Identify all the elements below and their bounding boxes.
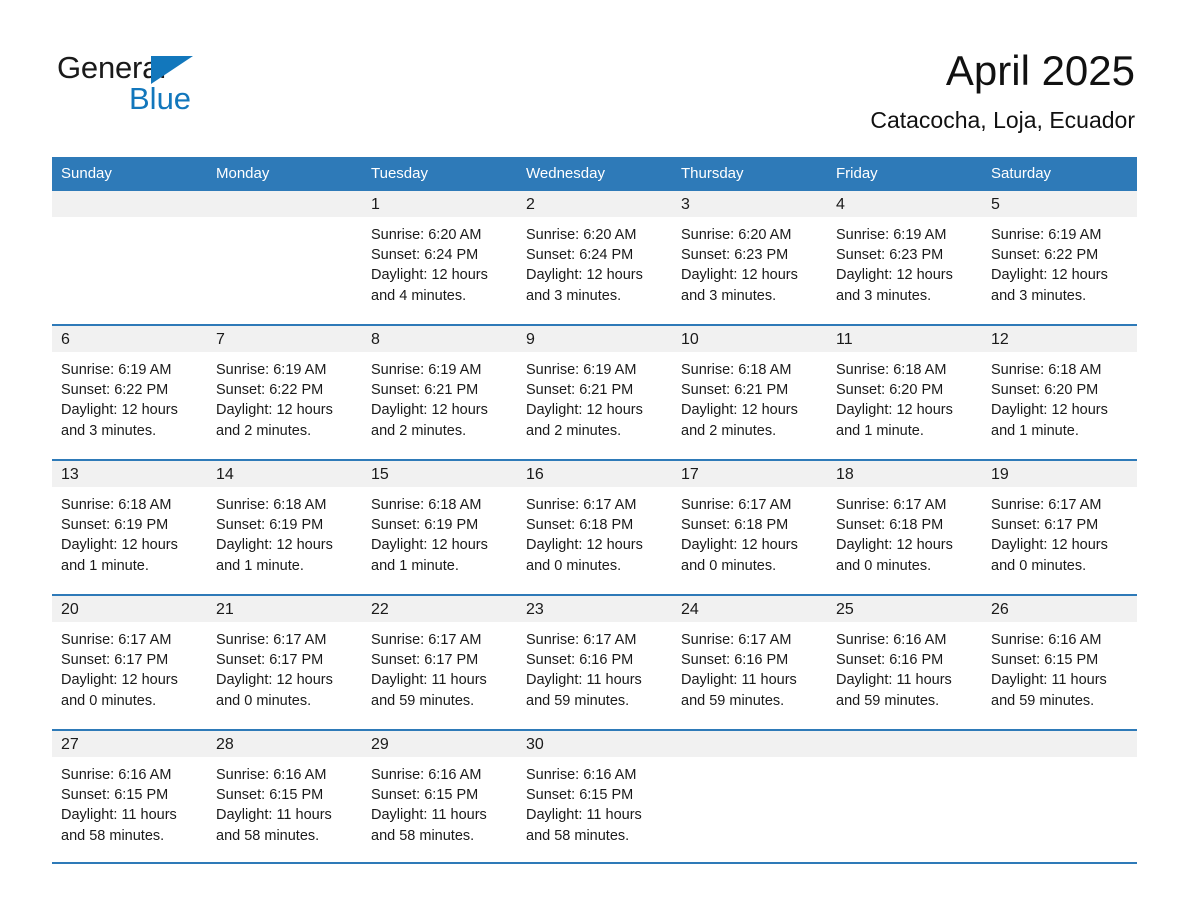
sunset-text: Sunset: 6:19 PM <box>216 515 352 535</box>
day-number: 8 <box>362 326 517 352</box>
weekday-header-saturday: Saturday <box>982 157 1137 191</box>
calendar-day-cell[interactable]: 30Sunrise: 6:16 AMSunset: 6:15 PMDayligh… <box>517 731 672 862</box>
day-details: Sunrise: 6:18 AMSunset: 6:19 PMDaylight:… <box>207 487 362 576</box>
sunset-text: Sunset: 6:15 PM <box>61 785 197 805</box>
daylight-text-line2: and 59 minutes. <box>371 691 507 711</box>
daylight-text-line2: and 0 minutes. <box>61 691 197 711</box>
calendar-day-cell[interactable]: 17Sunrise: 6:17 AMSunset: 6:18 PMDayligh… <box>672 461 827 594</box>
sunrise-text: Sunrise: 6:19 AM <box>371 360 507 380</box>
day-number: 11 <box>827 326 982 352</box>
daylight-text-line1: Daylight: 12 hours <box>61 535 197 555</box>
day-number: 16 <box>517 461 672 487</box>
day-number: 10 <box>672 326 827 352</box>
day-number: 4 <box>827 191 982 217</box>
triangle-icon <box>151 56 193 84</box>
day-details: Sunrise: 6:19 AMSunset: 6:22 PMDaylight:… <box>982 217 1137 306</box>
daylight-text-line2: and 59 minutes. <box>991 691 1127 711</box>
calendar-day-cell[interactable]: 4Sunrise: 6:19 AMSunset: 6:23 PMDaylight… <box>827 191 982 324</box>
day-details: Sunrise: 6:16 AMSunset: 6:15 PMDaylight:… <box>362 757 517 846</box>
calendar-day-cell[interactable]: 29Sunrise: 6:16 AMSunset: 6:15 PMDayligh… <box>362 731 517 862</box>
day-details: Sunrise: 6:17 AMSunset: 6:17 PMDaylight:… <box>362 622 517 711</box>
sunset-text: Sunset: 6:20 PM <box>836 380 972 400</box>
sunrise-text: Sunrise: 6:17 AM <box>371 630 507 650</box>
calendar-page: General Blue April 2025 Catacocha, Loja,… <box>0 0 1188 918</box>
daylight-text-line2: and 0 minutes. <box>216 691 352 711</box>
daylight-text-line2: and 1 minute. <box>216 556 352 576</box>
day-details: Sunrise: 6:16 AMSunset: 6:16 PMDaylight:… <box>827 622 982 711</box>
day-number: 23 <box>517 596 672 622</box>
day-number <box>207 191 362 217</box>
daylight-text-line2: and 2 minutes. <box>526 421 662 441</box>
day-number: 26 <box>982 596 1137 622</box>
daylight-text-line1: Daylight: 11 hours <box>681 670 817 690</box>
day-number: 14 <box>207 461 362 487</box>
general-blue-logo[interactable]: General Blue <box>57 50 297 122</box>
sunset-text: Sunset: 6:21 PM <box>526 380 662 400</box>
day-number: 1 <box>362 191 517 217</box>
sunrise-text: Sunrise: 6:20 AM <box>681 225 817 245</box>
day-details: Sunrise: 6:20 AMSunset: 6:24 PMDaylight:… <box>362 217 517 306</box>
daylight-text-line2: and 1 minute. <box>371 556 507 576</box>
calendar-day-cell[interactable]: 28Sunrise: 6:16 AMSunset: 6:15 PMDayligh… <box>207 731 362 862</box>
day-number <box>827 731 982 757</box>
sunset-text: Sunset: 6:15 PM <box>526 785 662 805</box>
calendar-day-cell[interactable]: 6Sunrise: 6:19 AMSunset: 6:22 PMDaylight… <box>52 326 207 459</box>
calendar-day-cell-empty <box>672 731 827 862</box>
calendar-week-row: 6Sunrise: 6:19 AMSunset: 6:22 PMDaylight… <box>52 325 1137 460</box>
calendar-day-cell[interactable]: 13Sunrise: 6:18 AMSunset: 6:19 PMDayligh… <box>52 461 207 594</box>
daylight-text-line2: and 3 minutes. <box>681 286 817 306</box>
sunrise-text: Sunrise: 6:18 AM <box>681 360 817 380</box>
calendar-day-cell[interactable]: 20Sunrise: 6:17 AMSunset: 6:17 PMDayligh… <box>52 596 207 729</box>
daylight-text-line1: Daylight: 12 hours <box>991 535 1127 555</box>
day-details: Sunrise: 6:17 AMSunset: 6:16 PMDaylight:… <box>517 622 672 711</box>
sunrise-text: Sunrise: 6:19 AM <box>991 225 1127 245</box>
sunrise-text: Sunrise: 6:19 AM <box>216 360 352 380</box>
day-number: 15 <box>362 461 517 487</box>
day-number: 20 <box>52 596 207 622</box>
calendar-day-cell[interactable]: 11Sunrise: 6:18 AMSunset: 6:20 PMDayligh… <box>827 326 982 459</box>
day-number: 24 <box>672 596 827 622</box>
sunset-text: Sunset: 6:17 PM <box>991 515 1127 535</box>
sunset-text: Sunset: 6:22 PM <box>991 245 1127 265</box>
daylight-text-line2: and 59 minutes. <box>526 691 662 711</box>
weekday-header-friday: Friday <box>827 157 982 191</box>
sunrise-text: Sunrise: 6:20 AM <box>526 225 662 245</box>
page-subtitle-location: Catacocha, Loja, Ecuador <box>870 106 1135 134</box>
day-details: Sunrise: 6:16 AMSunset: 6:15 PMDaylight:… <box>517 757 672 846</box>
sunset-text: Sunset: 6:18 PM <box>526 515 662 535</box>
sunrise-text: Sunrise: 6:17 AM <box>61 630 197 650</box>
day-number: 17 <box>672 461 827 487</box>
daylight-text-line2: and 4 minutes. <box>371 286 507 306</box>
day-number: 28 <box>207 731 362 757</box>
sunset-text: Sunset: 6:24 PM <box>526 245 662 265</box>
day-details: Sunrise: 6:20 AMSunset: 6:24 PMDaylight:… <box>517 217 672 306</box>
day-details: Sunrise: 6:17 AMSunset: 6:17 PMDaylight:… <box>52 622 207 711</box>
daylight-text-line2: and 1 minute. <box>836 421 972 441</box>
daylight-text-line2: and 0 minutes. <box>991 556 1127 576</box>
daylight-text-line1: Daylight: 11 hours <box>216 805 352 825</box>
day-number: 13 <box>52 461 207 487</box>
sunrise-text: Sunrise: 6:16 AM <box>991 630 1127 650</box>
daylight-text-line2: and 59 minutes. <box>836 691 972 711</box>
weekday-header-monday: Monday <box>207 157 362 191</box>
daylight-text-line1: Daylight: 12 hours <box>61 670 197 690</box>
calendar-day-cell[interactable]: 5Sunrise: 6:19 AMSunset: 6:22 PMDaylight… <box>982 191 1137 324</box>
calendar-day-cell[interactable]: 18Sunrise: 6:17 AMSunset: 6:18 PMDayligh… <box>827 461 982 594</box>
sunset-text: Sunset: 6:24 PM <box>371 245 507 265</box>
day-details: Sunrise: 6:19 AMSunset: 6:22 PMDaylight:… <box>52 352 207 441</box>
calendar-day-cell[interactable]: 15Sunrise: 6:18 AMSunset: 6:19 PMDayligh… <box>362 461 517 594</box>
daylight-text-line1: Daylight: 12 hours <box>836 400 972 420</box>
daylight-text-line2: and 58 minutes. <box>526 826 662 846</box>
sunset-text: Sunset: 6:17 PM <box>61 650 197 670</box>
calendar-day-cell[interactable]: 2Sunrise: 6:20 AMSunset: 6:24 PMDaylight… <box>517 191 672 324</box>
sunrise-text: Sunrise: 6:17 AM <box>216 630 352 650</box>
calendar-day-cell[interactable]: 22Sunrise: 6:17 AMSunset: 6:17 PMDayligh… <box>362 596 517 729</box>
calendar-day-cell[interactable]: 12Sunrise: 6:18 AMSunset: 6:20 PMDayligh… <box>982 326 1137 459</box>
calendar-day-cell[interactable]: 24Sunrise: 6:17 AMSunset: 6:16 PMDayligh… <box>672 596 827 729</box>
calendar-day-cell[interactable]: 9Sunrise: 6:19 AMSunset: 6:21 PMDaylight… <box>517 326 672 459</box>
day-number <box>672 731 827 757</box>
calendar-week-row: 20Sunrise: 6:17 AMSunset: 6:17 PMDayligh… <box>52 595 1137 730</box>
day-details: Sunrise: 6:17 AMSunset: 6:16 PMDaylight:… <box>672 622 827 711</box>
daylight-text-line1: Daylight: 12 hours <box>681 265 817 285</box>
day-details: Sunrise: 6:17 AMSunset: 6:18 PMDaylight:… <box>672 487 827 576</box>
day-number: 29 <box>362 731 517 757</box>
daylight-text-line1: Daylight: 12 hours <box>836 535 972 555</box>
day-number: 5 <box>982 191 1137 217</box>
sunset-text: Sunset: 6:15 PM <box>991 650 1127 670</box>
daylight-text-line1: Daylight: 11 hours <box>991 670 1127 690</box>
day-number: 22 <box>362 596 517 622</box>
weekday-header-sunday: Sunday <box>52 157 207 191</box>
sunrise-text: Sunrise: 6:16 AM <box>371 765 507 785</box>
daylight-text-line1: Daylight: 12 hours <box>216 535 352 555</box>
calendar-header-row: Sunday Monday Tuesday Wednesday Thursday… <box>52 157 1137 191</box>
sunrise-text: Sunrise: 6:18 AM <box>991 360 1127 380</box>
day-number: 19 <box>982 461 1137 487</box>
day-number: 30 <box>517 731 672 757</box>
daylight-text-line1: Daylight: 11 hours <box>371 670 507 690</box>
sunset-text: Sunset: 6:15 PM <box>216 785 352 805</box>
sunrise-text: Sunrise: 6:17 AM <box>526 630 662 650</box>
sunrise-text: Sunrise: 6:17 AM <box>681 495 817 515</box>
daylight-text-line2: and 3 minutes. <box>836 286 972 306</box>
daylight-text-line2: and 3 minutes. <box>61 421 197 441</box>
day-number: 12 <box>982 326 1137 352</box>
daylight-text-line1: Daylight: 12 hours <box>216 400 352 420</box>
day-number: 18 <box>827 461 982 487</box>
daylight-text-line1: Daylight: 11 hours <box>371 805 507 825</box>
sunset-text: Sunset: 6:22 PM <box>216 380 352 400</box>
day-details: Sunrise: 6:18 AMSunset: 6:21 PMDaylight:… <box>672 352 827 441</box>
day-details: Sunrise: 6:17 AMSunset: 6:17 PMDaylight:… <box>982 487 1137 576</box>
daylight-text-line1: Daylight: 12 hours <box>681 535 817 555</box>
calendar-day-cell[interactable]: 1Sunrise: 6:20 AMSunset: 6:24 PMDaylight… <box>362 191 517 324</box>
sunrise-text: Sunrise: 6:18 AM <box>61 495 197 515</box>
sunrise-text: Sunrise: 6:16 AM <box>61 765 197 785</box>
sunset-text: Sunset: 6:23 PM <box>681 245 817 265</box>
calendar-day-cell[interactable]: 14Sunrise: 6:18 AMSunset: 6:19 PMDayligh… <box>207 461 362 594</box>
daylight-text-line1: Daylight: 12 hours <box>371 265 507 285</box>
sunrise-text: Sunrise: 6:16 AM <box>216 765 352 785</box>
sunrise-text: Sunrise: 6:17 AM <box>526 495 662 515</box>
sunrise-text: Sunrise: 6:16 AM <box>526 765 662 785</box>
day-details: Sunrise: 6:20 AMSunset: 6:23 PMDaylight:… <box>672 217 827 306</box>
calendar-day-cell[interactable]: 16Sunrise: 6:17 AMSunset: 6:18 PMDayligh… <box>517 461 672 594</box>
daylight-text-line1: Daylight: 11 hours <box>526 670 662 690</box>
calendar-week-row: 1Sunrise: 6:20 AMSunset: 6:24 PMDaylight… <box>52 191 1137 325</box>
sunset-text: Sunset: 6:17 PM <box>371 650 507 670</box>
day-details: Sunrise: 6:19 AMSunset: 6:21 PMDaylight:… <box>362 352 517 441</box>
daylight-text-line2: and 2 minutes. <box>216 421 352 441</box>
day-number <box>52 191 207 217</box>
calendar-day-cell-empty <box>827 731 982 862</box>
sunrise-text: Sunrise: 6:18 AM <box>371 495 507 515</box>
calendar-day-cell[interactable]: 25Sunrise: 6:16 AMSunset: 6:16 PMDayligh… <box>827 596 982 729</box>
calendar-day-cell[interactable]: 3Sunrise: 6:20 AMSunset: 6:23 PMDaylight… <box>672 191 827 324</box>
title-block: April 2025 Catacocha, Loja, Ecuador <box>870 46 1135 134</box>
daylight-text-line1: Daylight: 12 hours <box>61 400 197 420</box>
page-header: General Blue April 2025 Catacocha, Loja,… <box>0 0 1188 157</box>
sunrise-text: Sunrise: 6:19 AM <box>61 360 197 380</box>
daylight-text-line2: and 0 minutes. <box>836 556 972 576</box>
sunrise-text: Sunrise: 6:17 AM <box>681 630 817 650</box>
daylight-text-line1: Daylight: 12 hours <box>216 670 352 690</box>
sunset-text: Sunset: 6:21 PM <box>371 380 507 400</box>
calendar-week-row: 27Sunrise: 6:16 AMSunset: 6:15 PMDayligh… <box>52 730 1137 863</box>
daylight-text-line1: Daylight: 12 hours <box>526 265 662 285</box>
daylight-text-line2: and 1 minute. <box>991 421 1127 441</box>
calendar-day-cell[interactable]: 8Sunrise: 6:19 AMSunset: 6:21 PMDaylight… <box>362 326 517 459</box>
day-details: Sunrise: 6:18 AMSunset: 6:20 PMDaylight:… <box>982 352 1137 441</box>
daylight-text-line1: Daylight: 11 hours <box>61 805 197 825</box>
daylight-text-line2: and 59 minutes. <box>681 691 817 711</box>
day-details: Sunrise: 6:19 AMSunset: 6:21 PMDaylight:… <box>517 352 672 441</box>
daylight-text-line2: and 58 minutes. <box>216 826 352 846</box>
day-details: Sunrise: 6:17 AMSunset: 6:17 PMDaylight:… <box>207 622 362 711</box>
calendar-table: Sunday Monday Tuesday Wednesday Thursday… <box>52 157 1137 864</box>
weekday-header-tuesday: Tuesday <box>362 157 517 191</box>
day-number: 2 <box>517 191 672 217</box>
sunset-text: Sunset: 6:22 PM <box>61 380 197 400</box>
daylight-text-line1: Daylight: 12 hours <box>526 535 662 555</box>
sunset-text: Sunset: 6:19 PM <box>371 515 507 535</box>
day-details: Sunrise: 6:19 AMSunset: 6:22 PMDaylight:… <box>207 352 362 441</box>
daylight-text-line2: and 3 minutes. <box>526 286 662 306</box>
daylight-text-line2: and 2 minutes. <box>371 421 507 441</box>
weekday-header-wednesday: Wednesday <box>517 157 672 191</box>
calendar-day-cell-empty <box>52 191 207 324</box>
page-title: April 2025 <box>870 46 1135 96</box>
daylight-text-line1: Daylight: 12 hours <box>836 265 972 285</box>
day-number: 6 <box>52 326 207 352</box>
sunrise-text: Sunrise: 6:18 AM <box>836 360 972 380</box>
sunset-text: Sunset: 6:18 PM <box>836 515 972 535</box>
sunrise-text: Sunrise: 6:19 AM <box>526 360 662 380</box>
sunset-text: Sunset: 6:23 PM <box>836 245 972 265</box>
day-number <box>982 731 1137 757</box>
calendar-day-cell[interactable]: 23Sunrise: 6:17 AMSunset: 6:16 PMDayligh… <box>517 596 672 729</box>
sunrise-text: Sunrise: 6:17 AM <box>991 495 1127 515</box>
calendar-day-cell[interactable]: 26Sunrise: 6:16 AMSunset: 6:15 PMDayligh… <box>982 596 1137 729</box>
day-details: Sunrise: 6:19 AMSunset: 6:23 PMDaylight:… <box>827 217 982 306</box>
day-number: 9 <box>517 326 672 352</box>
calendar-day-cell[interactable]: 21Sunrise: 6:17 AMSunset: 6:17 PMDayligh… <box>207 596 362 729</box>
day-details: Sunrise: 6:17 AMSunset: 6:18 PMDaylight:… <box>827 487 982 576</box>
calendar-day-cell-empty <box>982 731 1137 862</box>
day-details: Sunrise: 6:17 AMSunset: 6:18 PMDaylight:… <box>517 487 672 576</box>
sunrise-text: Sunrise: 6:16 AM <box>836 630 972 650</box>
sunset-text: Sunset: 6:18 PM <box>681 515 817 535</box>
daylight-text-line1: Daylight: 12 hours <box>526 400 662 420</box>
day-number: 27 <box>52 731 207 757</box>
daylight-text-line2: and 0 minutes. <box>526 556 662 576</box>
day-number: 3 <box>672 191 827 217</box>
daylight-text-line2: and 2 minutes. <box>681 421 817 441</box>
daylight-text-line1: Daylight: 11 hours <box>836 670 972 690</box>
calendar-day-cell[interactable]: 10Sunrise: 6:18 AMSunset: 6:21 PMDayligh… <box>672 326 827 459</box>
daylight-text-line1: Daylight: 12 hours <box>681 400 817 420</box>
daylight-text-line2: and 58 minutes. <box>61 826 197 846</box>
day-details: Sunrise: 6:18 AMSunset: 6:19 PMDaylight:… <box>52 487 207 576</box>
daylight-text-line1: Daylight: 11 hours <box>526 805 662 825</box>
day-details: Sunrise: 6:16 AMSunset: 6:15 PMDaylight:… <box>982 622 1137 711</box>
day-details: Sunrise: 6:16 AMSunset: 6:15 PMDaylight:… <box>207 757 362 846</box>
sunset-text: Sunset: 6:15 PM <box>371 785 507 805</box>
sunset-text: Sunset: 6:19 PM <box>61 515 197 535</box>
day-number: 7 <box>207 326 362 352</box>
calendar-day-cell[interactable]: 19Sunrise: 6:17 AMSunset: 6:17 PMDayligh… <box>982 461 1137 594</box>
calendar-body: 1Sunrise: 6:20 AMSunset: 6:24 PMDaylight… <box>52 191 1137 863</box>
daylight-text-line1: Daylight: 12 hours <box>991 265 1127 285</box>
day-details: Sunrise: 6:18 AMSunset: 6:19 PMDaylight:… <box>362 487 517 576</box>
day-number: 25 <box>827 596 982 622</box>
daylight-text-line1: Daylight: 12 hours <box>371 400 507 420</box>
calendar-day-cell-empty <box>207 191 362 324</box>
sunrise-text: Sunrise: 6:19 AM <box>836 225 972 245</box>
weekday-header-thursday: Thursday <box>672 157 827 191</box>
calendar-day-cell[interactable]: 27Sunrise: 6:16 AMSunset: 6:15 PMDayligh… <box>52 731 207 862</box>
daylight-text-line2: and 3 minutes. <box>991 286 1127 306</box>
sunset-text: Sunset: 6:16 PM <box>526 650 662 670</box>
sunrise-text: Sunrise: 6:20 AM <box>371 225 507 245</box>
calendar-day-cell[interactable]: 7Sunrise: 6:19 AMSunset: 6:22 PMDaylight… <box>207 326 362 459</box>
sunset-text: Sunset: 6:20 PM <box>991 380 1127 400</box>
daylight-text-line1: Daylight: 12 hours <box>991 400 1127 420</box>
day-details: Sunrise: 6:18 AMSunset: 6:20 PMDaylight:… <box>827 352 982 441</box>
sunset-text: Sunset: 6:17 PM <box>216 650 352 670</box>
calendar-week-row: 13Sunrise: 6:18 AMSunset: 6:19 PMDayligh… <box>52 460 1137 595</box>
sunrise-text: Sunrise: 6:18 AM <box>216 495 352 515</box>
sunset-text: Sunset: 6:16 PM <box>681 650 817 670</box>
sunset-text: Sunset: 6:16 PM <box>836 650 972 670</box>
sunrise-text: Sunrise: 6:17 AM <box>836 495 972 515</box>
logo-text-blue: Blue <box>129 81 191 117</box>
daylight-text-line2: and 1 minute. <box>61 556 197 576</box>
day-number: 21 <box>207 596 362 622</box>
day-details: Sunrise: 6:16 AMSunset: 6:15 PMDaylight:… <box>52 757 207 846</box>
daylight-text-line1: Daylight: 12 hours <box>371 535 507 555</box>
daylight-text-line2: and 58 minutes. <box>371 826 507 846</box>
sunset-text: Sunset: 6:21 PM <box>681 380 817 400</box>
daylight-text-line2: and 0 minutes. <box>681 556 817 576</box>
